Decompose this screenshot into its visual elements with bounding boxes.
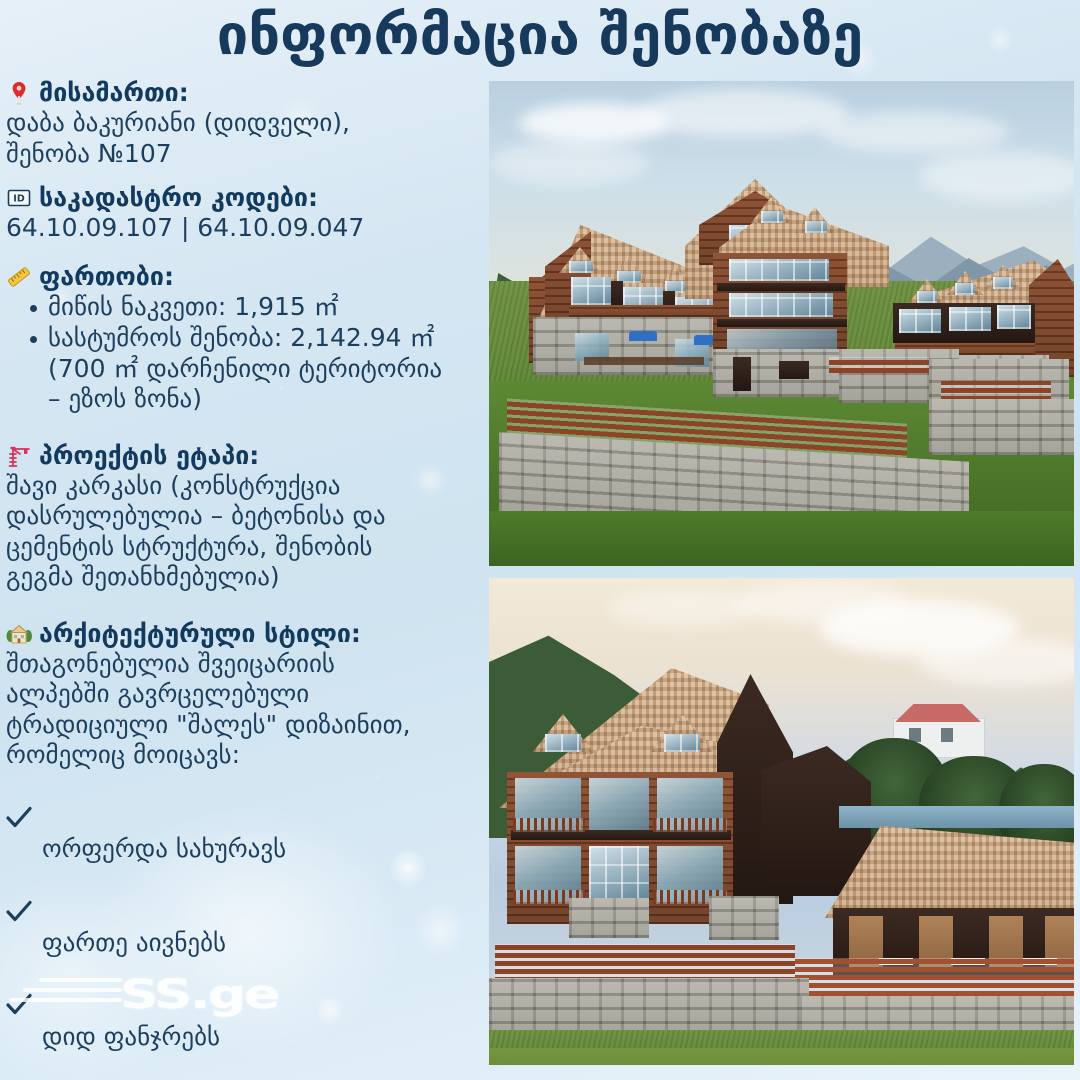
section-area-label: ფართობი: — [39, 262, 174, 291]
ruler-icon — [6, 264, 32, 290]
section-area: ფართობი: მიწის ნაკვეთი: 1,915 ㎡ სასტუმრო… — [6, 262, 484, 415]
checklist-label: ორფერდა სახურავს — [42, 834, 286, 863]
list-item: სასტუმროს შენობა: 2,142.94 ㎡ (700 ㎡ დარჩ… — [26, 323, 484, 415]
svg-text:ID: ID — [13, 193, 25, 204]
section-address-text: დაბა ბაკურიანი (დიდველი), შენობა №107 — [6, 108, 484, 169]
section-cadastral-header: ID საკადასტრო კოდები: — [6, 183, 484, 212]
list-item: მიწის ნაკვეთი: 1,915 ㎡ — [26, 292, 484, 323]
list-item: ფართე აივნებს — [6, 864, 484, 958]
section-project-stage-label: პროექტის ეტაპი: — [39, 441, 259, 470]
chalet-exterior-render-bottom[interactable] — [489, 578, 1074, 1065]
section-architecture-label: არქიტექტურული სტილი: — [39, 619, 361, 648]
section-address-label: მისამართი: — [39, 78, 189, 107]
checklist-label: დიდ ფანჯრებს — [42, 1022, 220, 1051]
section-address: მისამართი: დაბა ბაკურიანი (დიდველი), შენ… — [6, 78, 484, 169]
watermark-lines-icon — [9, 978, 122, 1008]
house-icon — [6, 621, 32, 647]
list-item: ორფერდა სახურავს — [6, 771, 484, 865]
watermark-ss-ge: SS.ge — [120, 972, 278, 1018]
info-column: მისამართი: დაბა ბაკურიანი (დიდველი), შენ… — [6, 78, 484, 1080]
check-icon — [6, 775, 32, 799]
section-architecture-header: არქიტექტურული სტილი: — [6, 619, 484, 648]
section-area-header: ფართობი: — [6, 262, 484, 291]
hotel-exterior-render-top[interactable] — [489, 81, 1074, 566]
page-title: ინფორმაცია შენობაზე — [0, 4, 1080, 68]
map-pin-icon — [6, 80, 32, 106]
section-address-header: მისამართი: — [6, 78, 484, 107]
section-project-stage-text: შავი კარკასი (კონსტრუქცია დასრულებულია –… — [6, 471, 484, 593]
check-icon — [6, 1056, 32, 1080]
section-project-stage: პროექტის ეტაპი: შავი კარკასი (კონსტრუქცი… — [6, 441, 484, 593]
construction-crane-icon — [6, 443, 32, 469]
section-architecture-text: შთაგონებულია შვეიცარიის ალპებში გავრცელე… — [6, 649, 484, 771]
section-project-stage-header: პროექტის ეტაპი: — [6, 441, 484, 470]
watermark-label: SS.ge — [120, 972, 278, 1018]
poster-canvas: ინფორმაცია შენობაზე მისამართი: დაბა ბაკუ… — [0, 0, 1080, 1080]
section-cadastral: ID საკადასტრო კოდები: 64.10.09.107 | 64.… — [6, 183, 484, 244]
architecture-feature-checklist: ორფერდა სახურავს ფართე აივნებს დიდ ფანჯრ… — [6, 771, 484, 1080]
list-item: ხისა და ქვის ფასადს — [6, 1052, 484, 1080]
id-badge-icon: ID — [6, 185, 32, 211]
checklist-label: ფართე აივნებს — [42, 928, 226, 957]
section-cadastral-codes: 64.10.09.107 | 64.10.09.047 — [6, 213, 484, 244]
check-icon — [6, 868, 32, 892]
section-cadastral-label: საკადასტრო კოდები: — [39, 183, 318, 212]
area-bullet-list: მიწის ნაკვეთი: 1,915 ㎡ სასტუმროს შენობა:… — [6, 292, 484, 415]
